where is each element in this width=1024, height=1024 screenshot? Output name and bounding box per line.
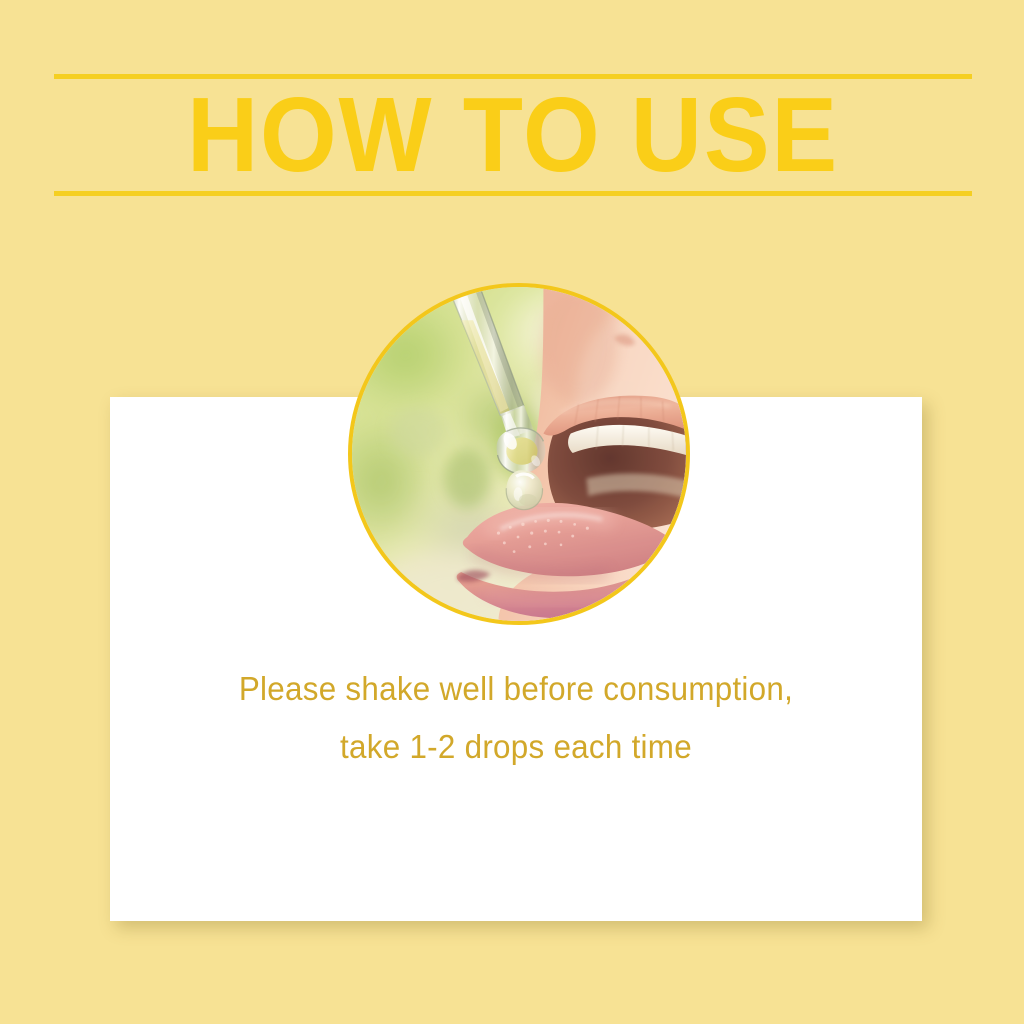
dropper-to-mouth-photo — [352, 287, 686, 621]
usage-photo-circle — [348, 283, 690, 625]
page-title: HOW TO USE — [86, 80, 940, 190]
instruction-line-2: take 1-2 drops each time — [130, 718, 901, 776]
header-block: HOW TO USE — [54, 74, 972, 196]
instruction-line-1: Please shake well before consumption, — [130, 660, 901, 718]
instruction-text: Please shake well before consumption, ta… — [130, 660, 901, 776]
how-to-use-poster: HOW TO USE — [0, 0, 1024, 1024]
header-rule-bottom — [54, 191, 972, 196]
